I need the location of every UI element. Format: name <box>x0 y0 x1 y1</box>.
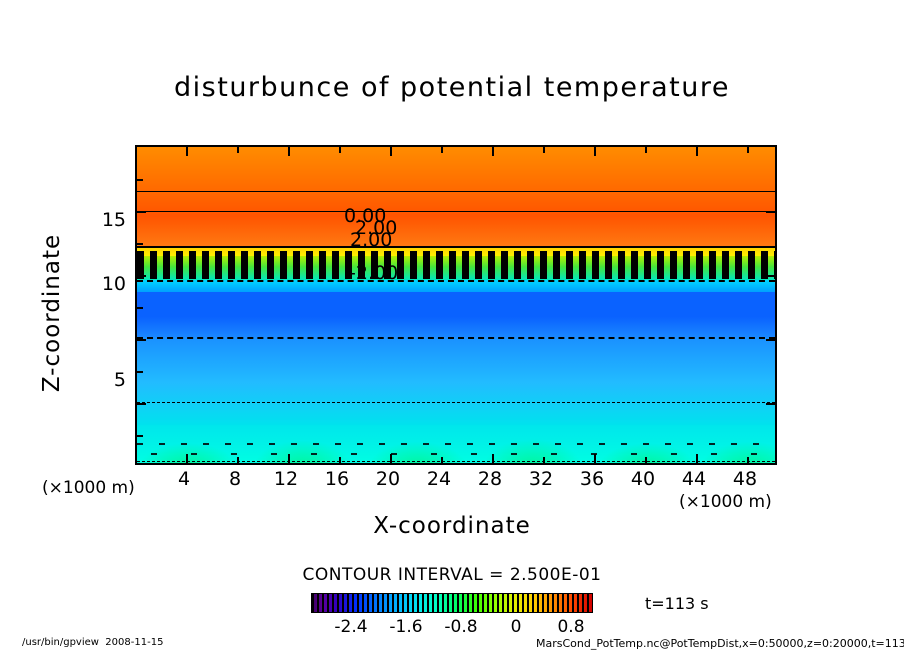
contour-line-minus2 <box>137 337 775 339</box>
x-tick-top <box>645 147 647 153</box>
x-tick <box>696 454 698 463</box>
y-axis-title: Z-coordinate <box>39 213 65 413</box>
x-tick-top <box>390 147 392 156</box>
y-tick <box>137 243 143 245</box>
y-tick-label: 10 <box>88 273 126 295</box>
x-tick <box>339 457 341 463</box>
contour-line-2 <box>137 280 775 282</box>
y-tick <box>137 179 143 181</box>
x-tick-top <box>492 147 494 156</box>
colorbar-tick-label: -0.8 <box>436 617 486 637</box>
contour-plot: 0.00 2.00 2.00 -2.00 <box>135 145 777 465</box>
layer-cold-core <box>137 292 775 337</box>
x-tick-top <box>747 147 749 153</box>
hatched-oscillation-zone <box>137 257 775 279</box>
colorbar-tick-label: -1.6 <box>381 617 431 637</box>
colorbar <box>311 593 593 613</box>
x-tick-top <box>186 147 188 156</box>
layer-cool <box>137 337 775 383</box>
contour-line-upper-b <box>137 211 775 212</box>
x-tick-top <box>237 147 239 153</box>
x-tick <box>390 454 392 463</box>
x-tick-label: 48 <box>715 468 775 490</box>
x-axis-unit-left: (×1000 m) <box>42 478 135 498</box>
y-tick <box>137 339 146 341</box>
x-tick <box>492 454 494 463</box>
x-tick-top <box>339 147 341 153</box>
x-axis-unit-right: (×1000 m) <box>679 492 772 512</box>
y-tick <box>137 371 143 373</box>
colorbar-tick-label: 0 <box>491 617 541 637</box>
y-tick <box>137 403 146 405</box>
y-tick <box>137 275 146 277</box>
time-label: t=113 s <box>645 594 709 613</box>
x-tick <box>441 457 443 463</box>
x-tick <box>288 454 290 463</box>
layer-orange-contours <box>137 216 775 247</box>
y-tick <box>137 211 146 213</box>
x-tick-top <box>543 147 545 153</box>
x-tick <box>186 454 188 463</box>
contour-line-minus1 <box>137 402 775 403</box>
footer-dataset: MarsCond_PotTemp.nc@PotTempDist,x=0:5000… <box>536 637 904 650</box>
x-tick <box>594 454 596 463</box>
x-axis-title: X-coordinate <box>0 513 904 539</box>
y-tick <box>137 307 143 309</box>
colorbar-tick-marks <box>312 594 592 612</box>
color-field: 0.00 2.00 2.00 -2.00 <box>137 147 775 463</box>
y-tick-label: 5 <box>88 369 126 391</box>
y-tick-right <box>766 403 775 405</box>
x-tick-top <box>696 147 698 156</box>
y-tick <box>137 435 143 437</box>
contour-interval-label: CONTOUR INTERVAL = 2.500E-01 <box>0 565 904 585</box>
contour-line-0 <box>137 246 775 248</box>
layer-warm-aloft <box>137 147 775 216</box>
y-tick-right <box>766 211 775 213</box>
hatched-oscillation-zone-2 <box>137 251 775 257</box>
x-tick <box>237 457 239 463</box>
y-tick-label: 15 <box>88 209 126 231</box>
contour-line-upper-a <box>137 191 775 192</box>
footer-command: /usr/bin/gpview 2008-11-15 <box>22 637 163 648</box>
x-tick <box>747 457 749 463</box>
x-tick-top <box>594 147 596 156</box>
y-tick-right <box>766 275 775 277</box>
colorbar-tick-label: 0.8 <box>546 617 596 637</box>
y-tick-right <box>766 339 775 341</box>
x-tick-top <box>288 147 290 156</box>
page-title: disturbunce of potential temperature <box>0 72 904 103</box>
x-tick <box>543 457 545 463</box>
surface-dashed-cells-2 <box>137 449 775 465</box>
contour-label-2b: 2.00 <box>350 229 392 251</box>
x-tick-top <box>441 147 443 153</box>
x-tick <box>645 457 647 463</box>
contour-label-minus2: -2.00 <box>349 262 398 284</box>
colorbar-tick-label: -2.4 <box>326 617 376 637</box>
